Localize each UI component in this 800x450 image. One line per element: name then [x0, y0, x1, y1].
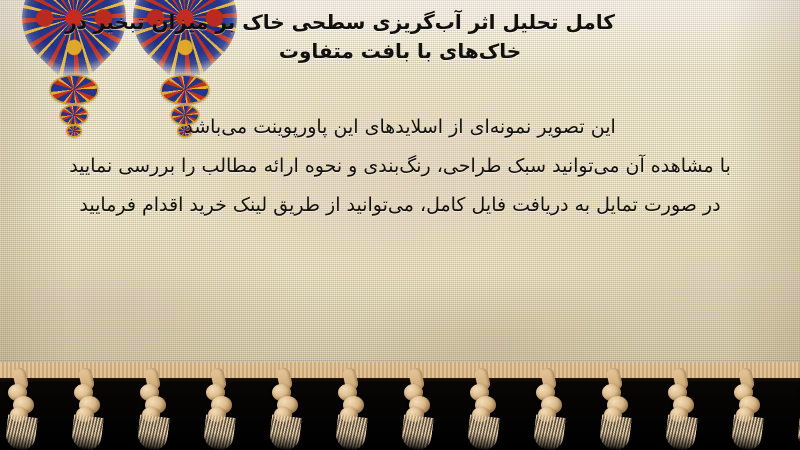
tassel-knot: [524, 372, 580, 450]
tassel-knot: [326, 372, 382, 450]
body-line-2: با مشاهده آن می‌توانید سبک طراحی، رنگ‌بن…: [24, 147, 776, 186]
tassel-threads: [136, 414, 170, 450]
tassel-knot: [62, 372, 118, 450]
tassel-threads: [202, 414, 236, 450]
tassel-knot: [392, 372, 448, 450]
tassel-knot: [260, 372, 316, 450]
ornament-drop-large-icon: [51, 76, 97, 103]
body-line-1: این تصویر نمونه‌ای از اسلایدهای این پاور…: [24, 108, 776, 147]
slide-canvas: کامل تحلیل اثر آب‌گریزی سطحی خاک بر میزا…: [0, 0, 800, 450]
tassel-fringe-row: [0, 372, 800, 450]
slide-title-line-1: کامل تحلیل اثر آب‌گریزی سطحی خاک بر میزا…: [14, 8, 786, 37]
tassel-threads: [664, 414, 698, 450]
tassel-threads: [400, 414, 434, 450]
tassel-knot: [194, 372, 250, 450]
tassel-knot: [128, 372, 184, 450]
tassel-threads: [598, 414, 632, 450]
tassel-knot: [656, 372, 712, 450]
tassel-threads: [532, 414, 566, 450]
tassel-knot: [722, 372, 778, 450]
tassel-threads: [268, 414, 302, 450]
tassel-threads: [4, 414, 38, 450]
slide-body-copy: این تصویر نمونه‌ای از اسلایدهای این پاور…: [0, 108, 800, 225]
ornament-drop-large-icon: [162, 76, 208, 103]
tassel-threads: [796, 414, 800, 450]
tassel-threads: [334, 414, 368, 450]
tassel-knot: [458, 372, 514, 450]
tassel-threads: [730, 414, 764, 450]
tassel-threads: [70, 414, 104, 450]
body-line-3: در صورت تمایل به دریافت فایل کامل، می‌تو…: [24, 186, 776, 225]
tassel-knot: [788, 372, 800, 450]
tassel-knot: [590, 372, 646, 450]
tassel-knot: [0, 372, 52, 450]
tassel-threads: [466, 414, 500, 450]
slide-title-line-2: خاک‌های با بافت متفاوت: [14, 37, 786, 66]
slide-title: کامل تحلیل اثر آب‌گریزی سطحی خاک بر میزا…: [0, 8, 800, 66]
